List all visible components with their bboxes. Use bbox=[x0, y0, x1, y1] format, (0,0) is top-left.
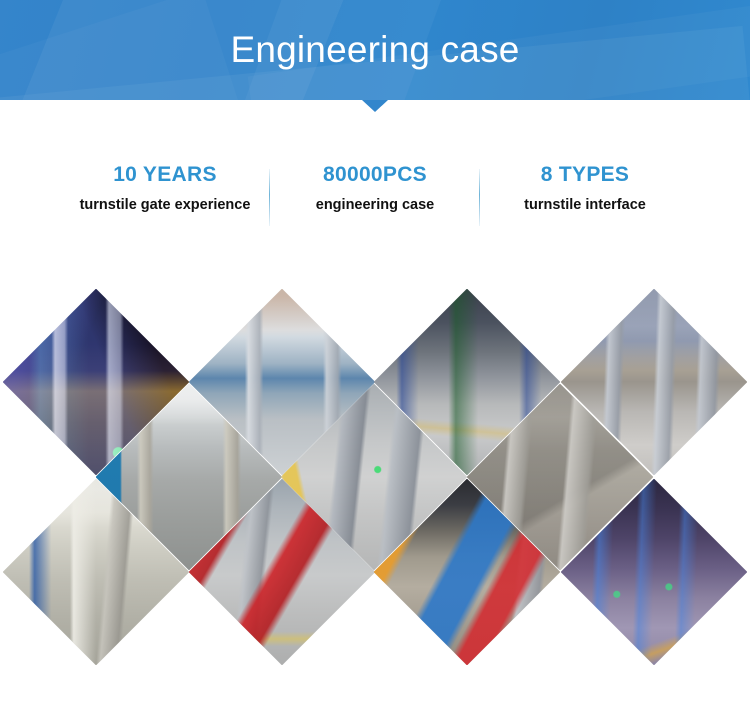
stat-label: turnstile interface bbox=[480, 192, 690, 218]
stat-value: 80000PCS bbox=[270, 160, 480, 190]
stat-item-types: 8 TYPES turnstile interface bbox=[480, 160, 690, 218]
stats-row: 10 YEARS turnstile gate experience 80000… bbox=[0, 160, 750, 235]
stat-label: turnstile gate experience bbox=[60, 192, 270, 218]
banner-arrow-notch-icon bbox=[362, 100, 388, 112]
stat-value: 10 YEARS bbox=[60, 160, 270, 190]
diamond-photo-gallery bbox=[0, 260, 750, 701]
stat-item-cases: 80000PCS engineering case bbox=[270, 160, 480, 218]
stat-label: engineering case bbox=[270, 192, 480, 218]
page-header-banner: Engineering case bbox=[0, 0, 750, 100]
stat-value: 8 TYPES bbox=[480, 160, 690, 190]
page-title: Engineering case bbox=[0, 26, 750, 74]
stat-item-years: 10 YEARS turnstile gate experience bbox=[60, 160, 270, 218]
